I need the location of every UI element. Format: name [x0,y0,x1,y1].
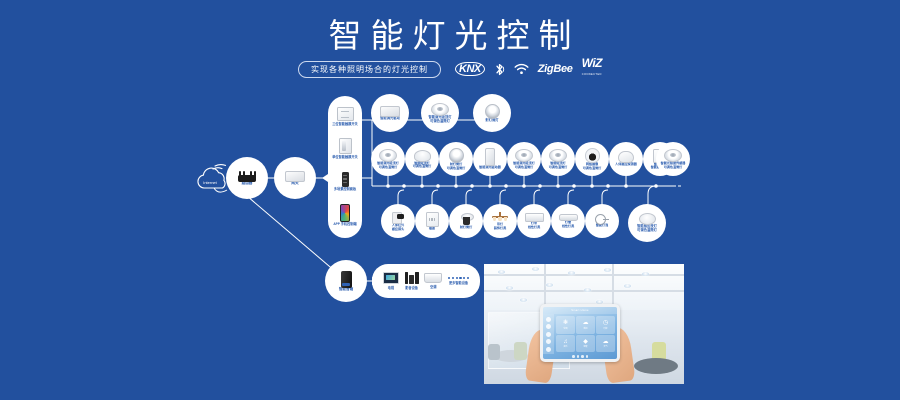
node-label: 网关 [291,182,298,186]
air-conditioner-icon [424,273,442,283]
control-capsule: 三位智能触摸开关 单位智能触摸开关 多场景控制面板 APP 手机控制端 [328,96,362,238]
node-label: 智能调光吸顶灯 可调色温筒灯 [377,162,399,169]
ceiling-area [484,264,684,310]
node-router[interactable]: 路由器 [226,157,268,199]
tablet-tile-grid: ❃ 空调 ☁ 新风 ◷ 时钟 ♫ 音乐 [554,314,617,354]
music-icon: ♫ [563,339,568,345]
tablet-title: Smart Home [543,307,617,314]
node-label: 网络摄像 可调色温筒灯 [583,163,602,170]
appliance-tv[interactable]: 电视 [383,272,399,291]
node-label: 智能调光吸顶灯 可调色温筒灯 [513,162,535,169]
rail-icon-home[interactable] [546,317,551,322]
node-label: 路由器 [242,182,253,186]
node-label: 智能光照度传感器 可调色温筒灯 [661,162,686,169]
tile-label: 湿度 [583,345,587,348]
ceiling-light [520,298,527,302]
node-top-downlight[interactable]: 射灯筒灯 [473,94,511,132]
gateway-icon [285,171,305,182]
panel-square-icon [337,107,354,121]
dock-dot[interactable] [586,355,589,358]
ceiling-light [568,271,575,275]
capsule-item-label: 三位智能触摸开关 [332,123,358,127]
bulb-plug-icon [595,214,609,224]
appliance-more[interactable]: 更多智能设备 [448,277,469,286]
node-bot-7[interactable]: 智能灯泡 [585,204,619,238]
node-bot-1[interactable]: 人体红外 感应探头 [381,204,415,238]
downlight-icon [449,148,464,163]
dock-dot[interactable] [572,355,575,358]
dock-dot[interactable] [577,355,580,358]
node-label: 射灯筒灯 [485,119,498,123]
node-top-ceiling-light[interactable]: 智能调光吸顶灯 可调色温筒灯 [421,94,459,132]
tablet-tile[interactable]: ◷ 时钟 [596,316,615,334]
node-mid-8[interactable]: 人体感应探测器 [609,142,643,176]
socket-icon [426,212,439,227]
ceiling-light [498,270,505,274]
ceiling-light [532,267,539,271]
motion-sensor-icon [618,151,634,163]
node-mid-5[interactable]: 智能调光吸顶灯 可调色温筒灯 [507,142,541,176]
capsule-item-label: 单位智能触摸开关 [332,156,358,160]
node-label: 智能调光驱动器 [479,166,501,169]
weather-icon: ☁ [603,339,609,345]
node-label: 灯管 线性灯具 [562,221,574,228]
node-bot-3[interactable]: 射灯筒灯 [449,204,483,238]
tablet-tile[interactable]: ◆ 湿度 [576,335,595,353]
node-dim-driver[interactable]: 智能调光驱动 [371,94,409,132]
wall-switch-icon [339,138,352,154]
router-icon [237,171,257,182]
more-dots-icon [448,277,469,279]
appliance-hifi[interactable]: 影音设备 [405,272,419,291]
dock-dot[interactable] [581,355,584,358]
appliance-label: 影音设备 [405,285,418,290]
node-label: 插座 [429,227,435,230]
node-mid-4[interactable]: 智能调光驱动器 [473,142,507,176]
tablet-dock [543,354,617,359]
node-label: 智能音箱 [339,288,353,292]
node-label: 智能调光驱动 [380,117,400,121]
linear-light-icon [525,213,544,222]
capsule-item-touch-switch-1[interactable]: 单位智能触摸开关 [332,138,358,159]
appliance-ac[interactable]: 空调 [424,273,442,290]
rail-icon-wifi[interactable] [546,332,551,337]
node-label: 吊灯 装饰灯具 [494,223,506,230]
humidity-icon: ◆ [583,339,588,345]
air-icon: ☁ [583,320,589,326]
dome-light-icon [414,150,431,162]
node-bot-4[interactable]: 吊灯 装饰灯具 [483,204,517,238]
tv-icon [383,272,399,284]
node-mid-3[interactable]: 射灯筒灯 可调色温筒灯 [439,142,473,176]
ceiling-light [506,286,513,290]
tablet-tile[interactable]: ♫ 音乐 [556,335,575,353]
tablet-screen: Smart Home ❃ 空调 [543,307,617,359]
capsule-item-touch-panel-3[interactable]: 三位智能触摸开关 [332,107,358,126]
capsule-item-label: APP 手机控制端 [333,223,356,227]
node-label: 智能吸顶灯 可调色温筒灯 [549,162,568,169]
node-label: 灯带 线性灯具 [528,222,540,229]
clock-icon: ◷ [603,320,608,326]
node-mid-1[interactable]: 智能调光吸顶灯 可调色温筒灯 [371,142,405,176]
appliance-label: 电视 [388,285,394,290]
node-label: 射灯筒灯 可调色温筒灯 [447,163,466,170]
hifi-icon [405,272,419,284]
node-bot-5[interactable]: 灯带 线性灯具 [517,204,551,238]
tile-label: 新风 [583,327,587,330]
tube-light-icon [559,214,578,221]
node-label: 智能感应夜灯 可调色温筒灯 [637,225,657,232]
tablet-device[interactable]: Smart Home ❃ 空调 [540,304,620,362]
rail-icon-light[interactable] [546,324,551,329]
tablet-body: ❃ 空调 ☁ 新风 ◷ 时钟 ♫ 音乐 [543,314,617,354]
sensor-round-icon [431,103,449,116]
smartphone-icon [340,204,350,222]
tile-label: 空调 [563,327,567,330]
connector-lines [0,0,900,400]
node-label: 人体红外 感应探头 [392,224,404,231]
capsule-item-scene-keypad[interactable]: 多场景控制面板 [334,172,356,192]
camera-icon [585,148,600,163]
node-smart-speaker[interactable]: 智能音箱 [325,260,367,302]
plug-camera-icon [392,211,405,224]
node-label: 智能灯泡 [596,224,608,227]
ceiling-light [584,288,591,292]
node-mid-2[interactable]: 智能吸顶灯 可调色温筒灯 [405,142,439,176]
office-chair [488,344,500,360]
tablet-tile[interactable]: ☁ 新风 [576,316,595,334]
smart-speaker-icon [341,271,352,288]
node-label: 射灯筒灯 [460,226,472,229]
appliance-label: 空调 [430,284,436,289]
appliance-bar: 电视 影音设备 空调 更多智能设备 [372,264,480,298]
round-table [634,358,678,374]
svg-text:Internet: Internet [203,180,217,185]
downlight-icon [485,104,500,119]
tablet-side-rail [543,314,554,354]
capsule-item-mobile-app[interactable]: APP 手机控制端 [333,204,356,227]
ceiling-light [546,283,553,287]
node-mid-7[interactable]: 网络摄像 可调色温筒灯 [575,142,609,176]
node-mid-6[interactable]: 智能吸顶灯 可调色温筒灯 [541,142,575,176]
rail-icon-user[interactable] [546,347,551,352]
ceiling-light [604,268,611,272]
node-bot-8[interactable]: 智能感应夜灯 可调色温筒灯 [628,204,666,242]
chandelier-icon [492,212,508,223]
poster-canvas: 智能灯光控制 实现各种照明场合的灯光控制 KNX ZigBee WiZ [0,0,900,400]
ceiling-light [624,284,631,288]
node-label: 智能吸顶灯 可调色温筒灯 [413,162,432,169]
node-label: 智能调光吸顶灯 可调色温筒灯 [428,116,451,123]
ceiling-light [642,272,649,276]
fan-icon: ❃ [563,320,568,326]
appliance-label: 更多智能设备 [449,280,468,285]
spotlight-icon [461,213,472,226]
ceiling-beam [484,274,684,276]
node-bot-2[interactable]: 插座 [415,204,449,238]
tablet-tile[interactable]: ☁ 天气 [596,335,615,353]
node-label: 人体感应探测器 [615,163,637,166]
node-bot-6[interactable]: 灯管 线性灯具 [551,204,585,238]
gateway-icon [380,106,400,117]
tile-label: 时钟 [603,327,607,330]
tablet-tile[interactable]: ❃ 空调 [556,316,575,334]
ceiling-beam [612,264,614,308]
node-gateway[interactable]: 网关 [274,157,316,199]
photo-inset: Smart Home ❃ 空调 [484,264,684,384]
office-chair [514,342,527,360]
rail-icon-settings[interactable] [546,339,551,344]
keypad-icon [342,172,349,187]
capsule-item-label: 多场景控制面板 [334,188,356,192]
node-mid-10[interactable]: 智能光照度传感器 可调色温筒灯 [656,142,690,176]
driver-icon [485,148,495,166]
tile-label: 音乐 [563,345,567,348]
tile-label: 天气 [603,345,607,348]
